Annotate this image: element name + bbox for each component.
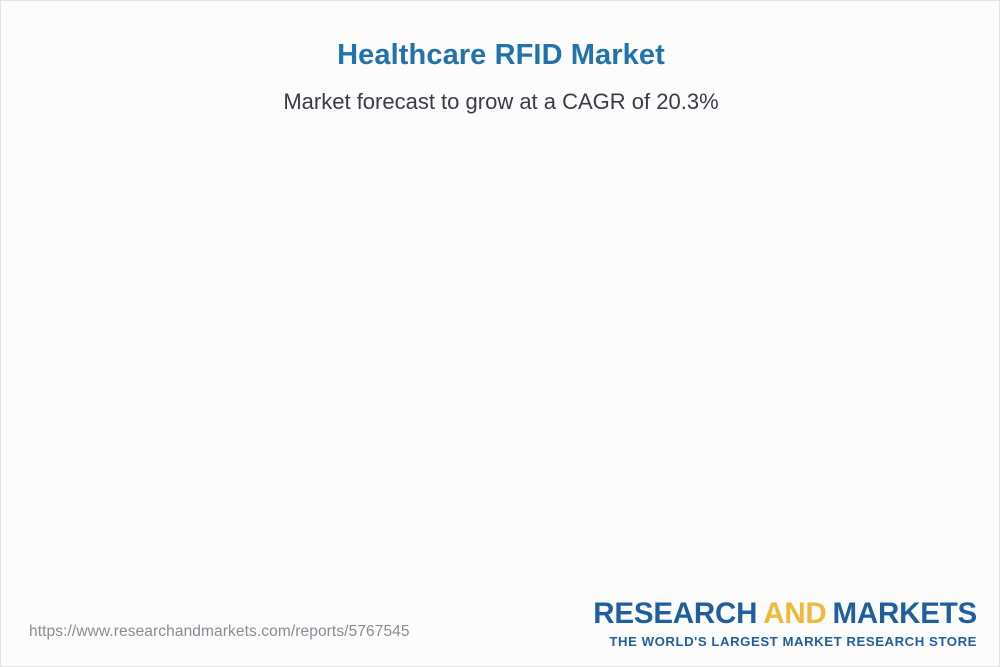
brand-word-and: AND [763, 597, 826, 630]
brand-word-research: RESEARCH [593, 597, 757, 630]
source-url[interactable]: https://www.researchandmarkets.com/repor… [29, 623, 410, 641]
brand-tagline: THE WORLD'S LARGEST MARKET RESEARCH STOR… [593, 634, 977, 649]
brand-logo[interactable]: RESEARCHANDMARKETS THE WORLD'S LARGEST M… [593, 599, 977, 649]
brand-name: RESEARCHANDMARKETS [593, 599, 977, 629]
brand-word-markets: MARKETS [833, 597, 977, 630]
infographic-canvas: Healthcare RFID Market Market forecast t… [0, 0, 1000, 667]
chart-plot-area: USD 3.92 Billion [1, 1, 1000, 601]
